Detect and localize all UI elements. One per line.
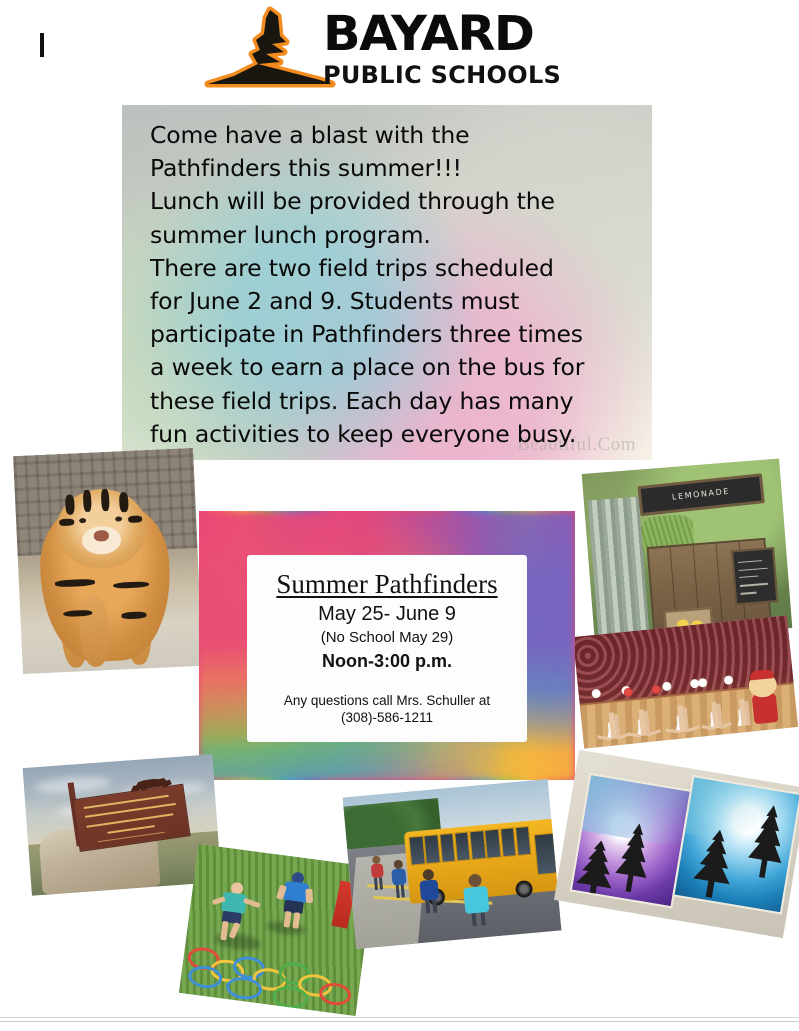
logo-secondary-text: PUBLIC SCHOOLS (323, 62, 623, 88)
page-bottom-border (0, 1017, 799, 1022)
summer-pathfinders-card: Summer Pathfinders May 25- June 9 (No Sc… (199, 511, 575, 780)
wildcat-hills-sign-photo (23, 754, 222, 896)
chimney-rock-logo-icon (200, 6, 340, 90)
canvas-blue (672, 775, 799, 914)
lemonade-sign-text: LEMONADE (672, 487, 731, 502)
logo-wordmark: BAYARD PUBLIC SCHOOLS (323, 8, 623, 88)
mascot (746, 670, 785, 725)
card-title: Summer Pathfinders (247, 569, 527, 599)
intro-body-text: Come have a blast with the Pathfinders t… (150, 119, 642, 451)
text-caret (40, 33, 44, 57)
card-contact-phone: (308)-586-1211 (247, 709, 527, 726)
logo-primary-text: BAYARD (323, 8, 632, 60)
card-no-school-note: (No School May 29) (247, 628, 527, 647)
school-bus-photo (343, 779, 562, 949)
kids-playing-photo (179, 844, 375, 1016)
card-contact-line-1: Any questions call Mrs. Schuller at (247, 692, 527, 709)
cheerleaders-photo (573, 615, 798, 748)
intro-text-panel: Beautiful.Com Come have a blast with the… (122, 105, 652, 460)
header: BAYARD PUBLIC SCHOOLS (195, 2, 615, 94)
lemonade-stand-photo: LEMONADE (582, 458, 793, 643)
card-dates: May 25- June 9 (247, 602, 527, 626)
canvas-art-photo (554, 750, 799, 938)
flyer-page: BAYARD PUBLIC SCHOOLS Beautiful.Com Come… (0, 0, 799, 1031)
card-time: Noon-3:00 p.m. (247, 650, 527, 672)
tiger-photo (13, 448, 203, 674)
